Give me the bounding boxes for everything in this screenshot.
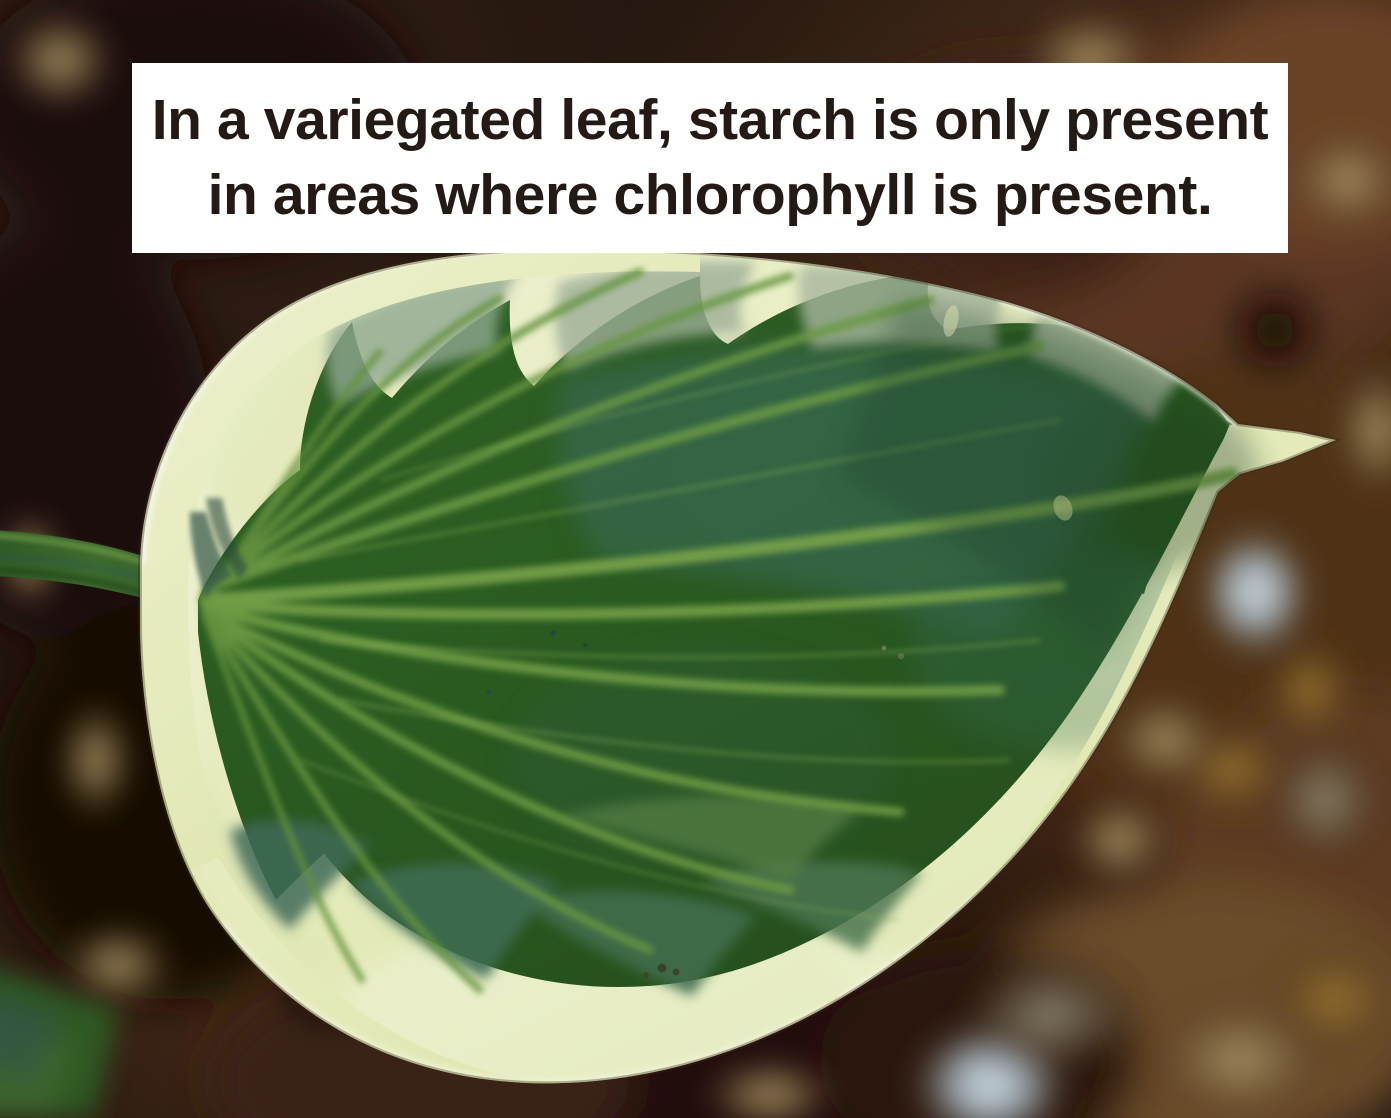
caption-banner: In a variegated leaf, starch is only pre… — [132, 63, 1288, 253]
caption-line-1: In a variegated leaf, starch is only pre… — [152, 83, 1269, 158]
screenshot-root: In a variegated leaf, starch is only pre… — [0, 0, 1391, 1118]
caption-line-2: in areas where chlorophyll is present. — [208, 158, 1213, 233]
